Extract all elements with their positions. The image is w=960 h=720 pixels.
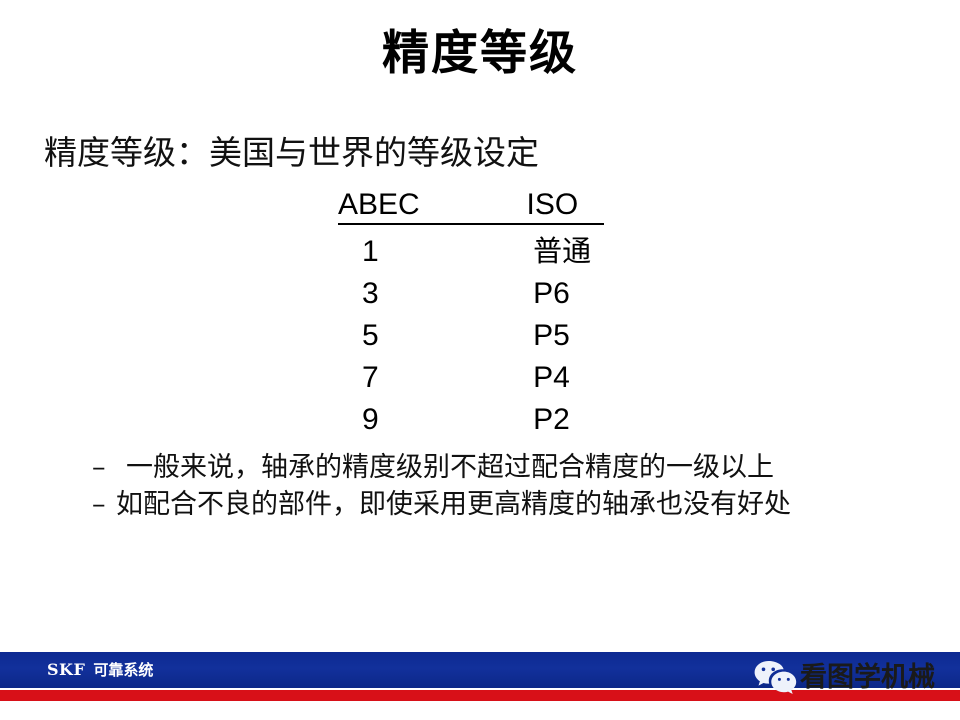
wechat-watermark-text: 看图学机械	[800, 664, 935, 691]
list-item: – 如配合不良的部件，即使采用更高精度的轴承也没有好处	[92, 489, 932, 520]
slide-subtitle: 精度等级：美国与世界的等级设定	[44, 133, 539, 173]
table-header-row: ABEC ISO	[336, 188, 598, 225]
bullet-dash-icon: –	[92, 489, 116, 520]
slide-canvas: 精度等级 精度等级：美国与世界的等级设定 ABEC ISO 1 普通 3 P6 …	[0, 0, 960, 720]
page-title: 精度等级	[0, 28, 960, 80]
cell-iso: P2	[533, 405, 598, 435]
cell-iso: 普通	[533, 237, 598, 267]
cell-iso: P4	[533, 363, 598, 393]
footer-brand-cn: 可靠系统	[93, 660, 153, 680]
table-row: 5 P5	[336, 321, 598, 351]
list-item-text: 如配合不良的部件，即使采用更高精度的轴承也没有好处	[116, 489, 932, 520]
table-row: 7 P4	[336, 363, 598, 393]
cell-iso: P5	[533, 321, 598, 351]
wechat-icon	[752, 658, 798, 694]
table-row: 1 普通	[336, 237, 598, 267]
wechat-watermark: 看图学机械	[752, 652, 960, 700]
cell-abec: 1	[336, 237, 533, 267]
column-header-iso: ISO	[527, 188, 598, 222]
bullet-dash-icon: –	[92, 452, 116, 483]
footer-brand: SKF 可靠系统	[47, 660, 153, 680]
cell-abec: 9	[336, 405, 533, 435]
list-item-text: 一般来说，轴承的精度级别不超过配合精度的一级以上	[116, 452, 932, 483]
cell-iso: P6	[533, 279, 598, 309]
precision-grade-table: ABEC ISO 1 普通 3 P6 5 P5 7 P4 9 P2	[336, 188, 598, 435]
cell-abec: 3	[336, 279, 533, 309]
cell-abec: 5	[336, 321, 533, 351]
cell-abec: 7	[336, 363, 533, 393]
list-item: – 一般来说，轴承的精度级别不超过配合精度的一级以上	[92, 452, 932, 483]
bullet-list: – 一般来说，轴承的精度级别不超过配合精度的一级以上 – 如配合不良的部件，即使…	[92, 452, 932, 521]
table-row: 9 P2	[336, 405, 598, 435]
table-row: 3 P6	[336, 279, 598, 309]
column-header-abec: ABEC	[336, 188, 527, 222]
footer-brand-latin: SKF	[47, 660, 85, 680]
